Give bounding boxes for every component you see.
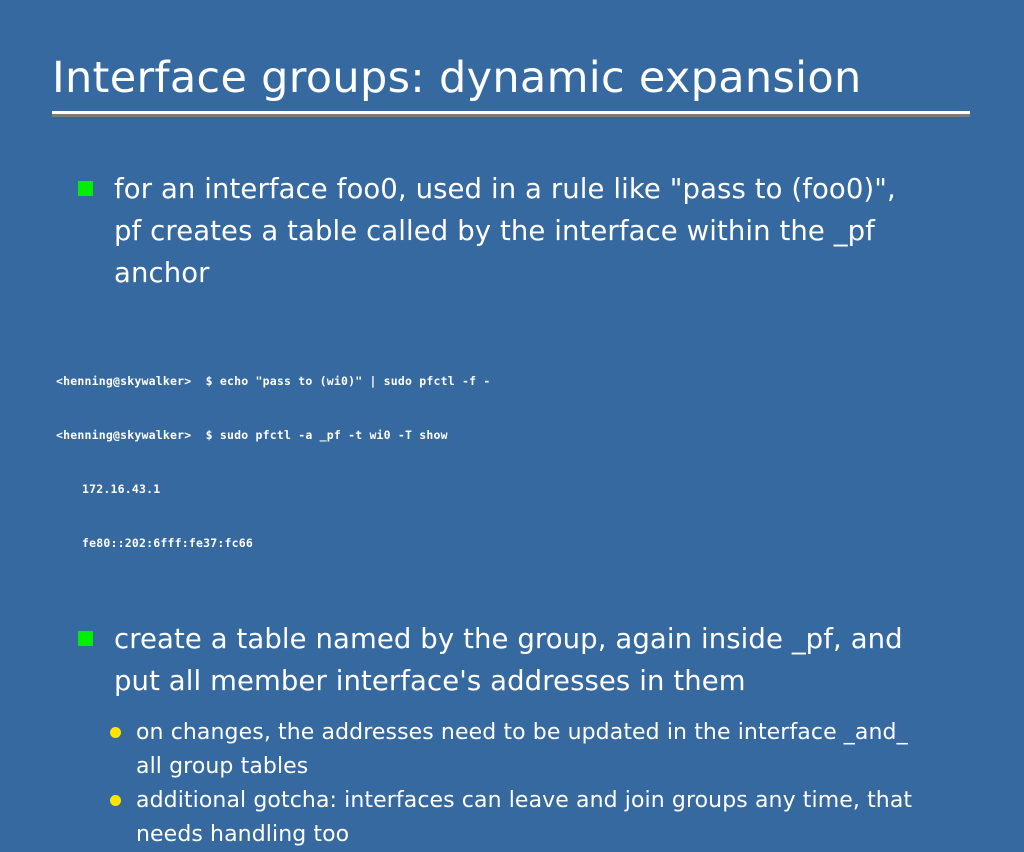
green-square-bullet-icon <box>78 181 93 196</box>
list-item-label: create a table named by the group, again… <box>114 623 903 697</box>
code-output-line: fe80::202:6fff:fe37:fc66 <box>56 534 816 552</box>
page-title: Interface groups: dynamic expansion <box>52 52 972 104</box>
list-item: for an interface foo0, used in a rule li… <box>78 168 930 294</box>
spacer <box>0 702 1024 716</box>
list-item-label: for an interface foo0, used in a rule li… <box>114 173 896 289</box>
terminal-code-block: <henning@skywalker> $ echo "pass to (wi0… <box>56 336 816 588</box>
yellow-dot-bullet-icon <box>110 727 121 738</box>
title-underline-rule <box>52 111 970 114</box>
list-item: additional gotcha: interfaces can leave … <box>108 784 936 852</box>
list-item-label: on changes, the addresses need to be upd… <box>136 720 908 779</box>
code-line: <henning@skywalker> $ echo "pass to (wi0… <box>56 372 816 390</box>
list-item-label: additional gotcha: interfaces can leave … <box>136 788 912 847</box>
code-output-line: 172.16.43.1 <box>56 480 816 498</box>
list-item: create a table named by the group, again… <box>78 618 930 702</box>
presentation-slide: Interface groups: dynamic expansion for … <box>0 0 1024 768</box>
yellow-dot-bullet-icon <box>110 795 121 806</box>
code-line: <henning@skywalker> $ sudo pfctl -a _pf … <box>56 426 816 444</box>
list-item: on changes, the addresses need to be upd… <box>108 716 936 784</box>
green-square-bullet-icon <box>78 631 93 646</box>
slide-title-block: Interface groups: dynamic expansion <box>52 52 972 114</box>
spacer <box>0 588 1024 618</box>
slide-body: for an interface foo0, used in a rule li… <box>0 168 1024 852</box>
spacer <box>0 294 1024 336</box>
